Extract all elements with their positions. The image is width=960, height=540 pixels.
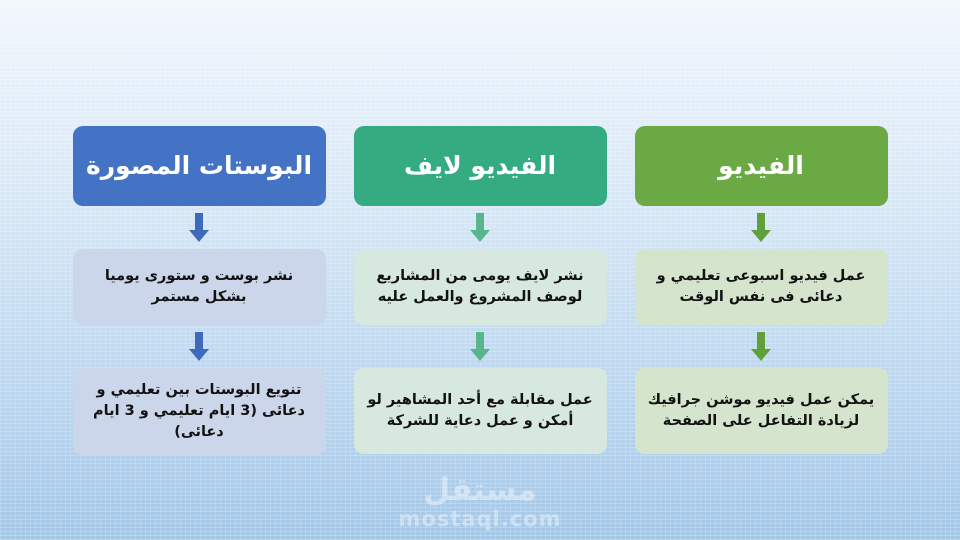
header-box-video[interactable]: الفيديو [635, 126, 888, 206]
header-box-live-video[interactable]: الفيديو لايف [354, 126, 607, 206]
step-box-live-video-2[interactable]: عمل مقابلة مع أحد المشاهير لو أمكن و عمل… [354, 368, 607, 454]
step-text-photo-posts-1: نشر بوست و ستورى يوميا بشكل مستمر [85, 266, 314, 308]
step-box-photo-posts-1[interactable]: نشر بوست و ستورى يوميا بشكل مستمر [73, 249, 326, 325]
column-photo-posts: البوستات المصورة نشر بوست و ستورى يوميا … [73, 126, 326, 540]
arrow-down-photo-posts-1 [188, 213, 210, 243]
arrow-down-photo-posts-2 [188, 332, 210, 362]
column-video: الفيديو عمل فيديو اسبوعى تعليمي و دعائى … [635, 126, 888, 540]
header-label-live-video: الفيديو لايف [404, 152, 556, 181]
step-text-live-video-1: نشر لايف يومى من المشاريع لوصف المشروع و… [366, 266, 595, 308]
header-label-photo-posts: البوستات المصورة [86, 152, 312, 181]
step-text-video-1: عمل فيديو اسبوعى تعليمي و دعائى فى نفس ا… [647, 266, 876, 308]
arrow-down-video-2 [750, 332, 772, 362]
arrow-down-live-video-2 [469, 332, 491, 362]
column-live-video: الفيديو لايف نشر لايف يومى من المشاريع ل… [354, 126, 607, 540]
step-box-live-video-1[interactable]: نشر لايف يومى من المشاريع لوصف المشروع و… [354, 249, 607, 325]
arrow-down-video-1 [750, 213, 772, 243]
step-box-video-1[interactable]: عمل فيديو اسبوعى تعليمي و دعائى فى نفس ا… [635, 249, 888, 325]
arrow-down-live-video-1 [469, 213, 491, 243]
flowchart-board: الفيديو عمل فيديو اسبوعى تعليمي و دعائى … [0, 0, 960, 540]
step-box-photo-posts-2[interactable]: تنويع البوستات بين تعليمي و دعائى (3 ايا… [73, 368, 326, 455]
step-text-photo-posts-2: تنويع البوستات بين تعليمي و دعائى (3 ايا… [85, 380, 314, 443]
header-label-video: الفيديو [718, 152, 804, 181]
header-box-photo-posts[interactable]: البوستات المصورة [73, 126, 326, 206]
step-box-video-2[interactable]: يمكن عمل فيديو موشن جرافيك لزيادة التفاع… [635, 368, 888, 454]
step-text-live-video-2: عمل مقابلة مع أحد المشاهير لو أمكن و عمل… [366, 390, 595, 432]
step-text-video-2: يمكن عمل فيديو موشن جرافيك لزيادة التفاع… [647, 390, 876, 432]
